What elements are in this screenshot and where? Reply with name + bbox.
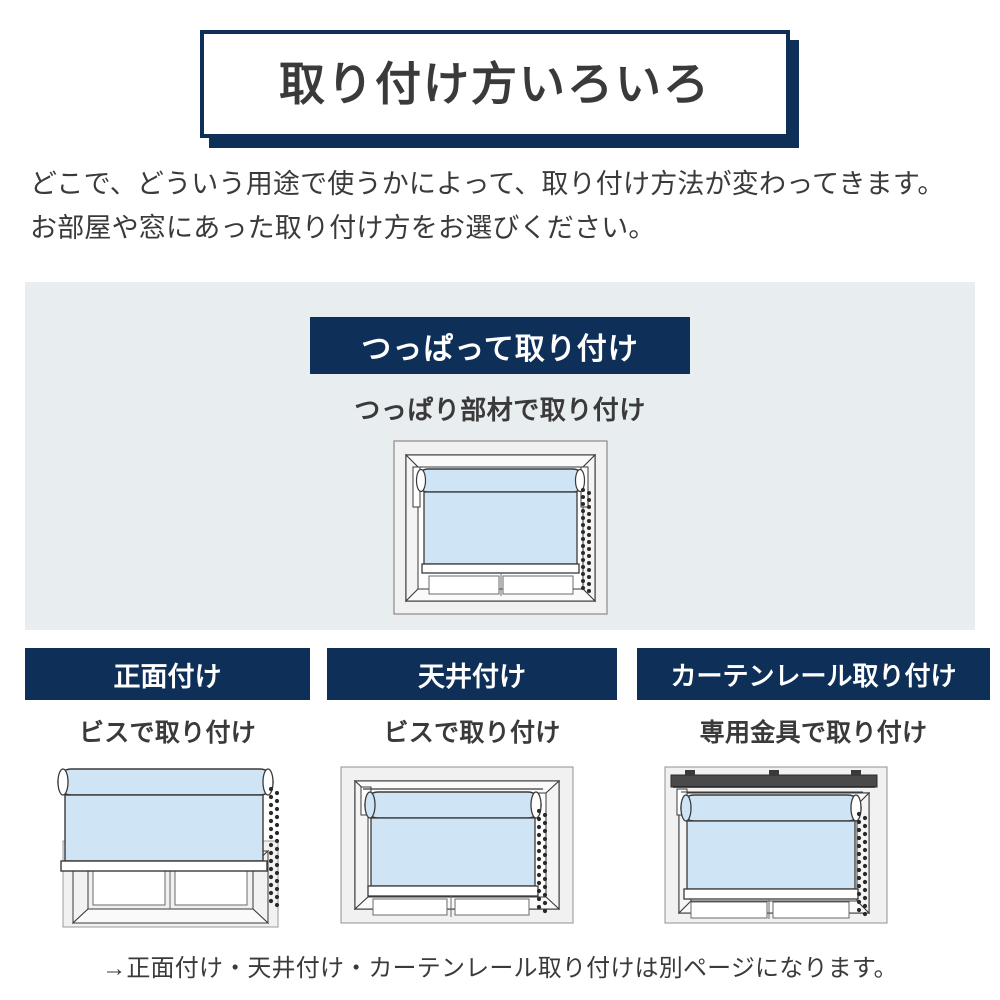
primary-method-panel: つっぱって取り付け つっぱり部材で取り付け (25, 282, 975, 630)
page-title-block: 取り付け方いろいろ (200, 30, 790, 138)
primary-method-badge[interactable]: つっぱって取り付け (310, 317, 690, 374)
method-badge-face-mount[interactable]: 正面付け (25, 648, 310, 700)
page-title: 取り付け方いろいろ (279, 61, 711, 107)
lead-line-1: どこで、どういう用途で使うかによって、取り付け方法が変わってきます。 (30, 163, 980, 207)
method-badge-ceiling-mount[interactable]: 天井付け (327, 648, 617, 700)
title-box: 取り付け方いろいろ (200, 30, 790, 138)
lead-line-2: お部屋や窓にあった取り付け方をお選びください。 (30, 207, 980, 251)
roller-blind-tension-mount-illustration (393, 440, 608, 615)
primary-method-subtitle: つっぱり部材で取り付け (25, 390, 975, 427)
roller-blind-ceiling-mount-illustration (327, 759, 617, 929)
install-methods-page: 取り付け方いろいろ どこで、どういう用途で使うかによって、取り付け方法が変わって… (0, 0, 1000, 1000)
method-subtitle-ceiling-mount: ビスで取り付け (327, 713, 617, 749)
footer-note: →正面付け・天井付け・カーテンレール取り付けは別ページになります。 (0, 948, 1000, 983)
method-subtitle-curtain-rail-mount: 専用金具で取り付け (637, 713, 990, 749)
roller-blind-face-mount-illustration (25, 759, 310, 929)
method-card-face-mount[interactable]: 正面付け ビスで取り付け (25, 648, 310, 929)
roller-blind-curtain-rail-mount-illustration (637, 759, 990, 929)
method-subtitle-face-mount: ビスで取り付け (25, 713, 310, 749)
method-card-curtain-rail-mount[interactable]: カーテンレール取り付け 専用金具で取り付け (637, 648, 990, 929)
lead-paragraph: どこで、どういう用途で使うかによって、取り付け方法が変わってきます。 お部屋や窓… (30, 163, 980, 250)
method-card-ceiling-mount[interactable]: 天井付け ビスで取り付け (327, 648, 617, 929)
method-badge-curtain-rail-mount[interactable]: カーテンレール取り付け (637, 648, 990, 700)
